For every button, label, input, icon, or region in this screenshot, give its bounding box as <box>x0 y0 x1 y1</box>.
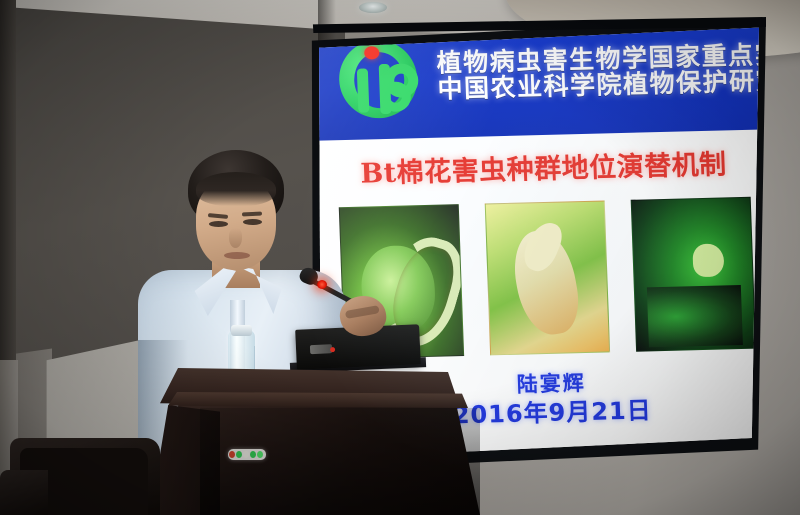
podium-emblem-icon <box>228 449 266 460</box>
laptop-logo-icon <box>310 344 332 354</box>
ceiling-downlight-icon <box>359 2 387 13</box>
microphone-led-indicator <box>317 280 327 289</box>
podium-edge <box>168 392 468 408</box>
slide-title: Bt棉花害虫种群地位演替机制 <box>311 141 759 192</box>
laptop-logo-dot-icon <box>330 347 335 352</box>
ipp-logo-icon <box>334 33 429 127</box>
presentation-room-photo: 植物病虫害生物学国家重点实验室 中国农业科学院植物保护研究所 Bt棉花害虫种群地… <box>0 0 800 515</box>
presenter-face <box>196 178 276 270</box>
foreground-chair-side <box>0 470 48 515</box>
slide-photo <box>631 197 756 352</box>
water-bottle-cap <box>231 325 252 336</box>
podium-shadow <box>200 408 480 515</box>
slide-photo <box>485 200 610 355</box>
slide-header-text: 植物病虫害生物学国家重点实验室 中国农业科学院植物保护研究所 <box>436 41 759 103</box>
